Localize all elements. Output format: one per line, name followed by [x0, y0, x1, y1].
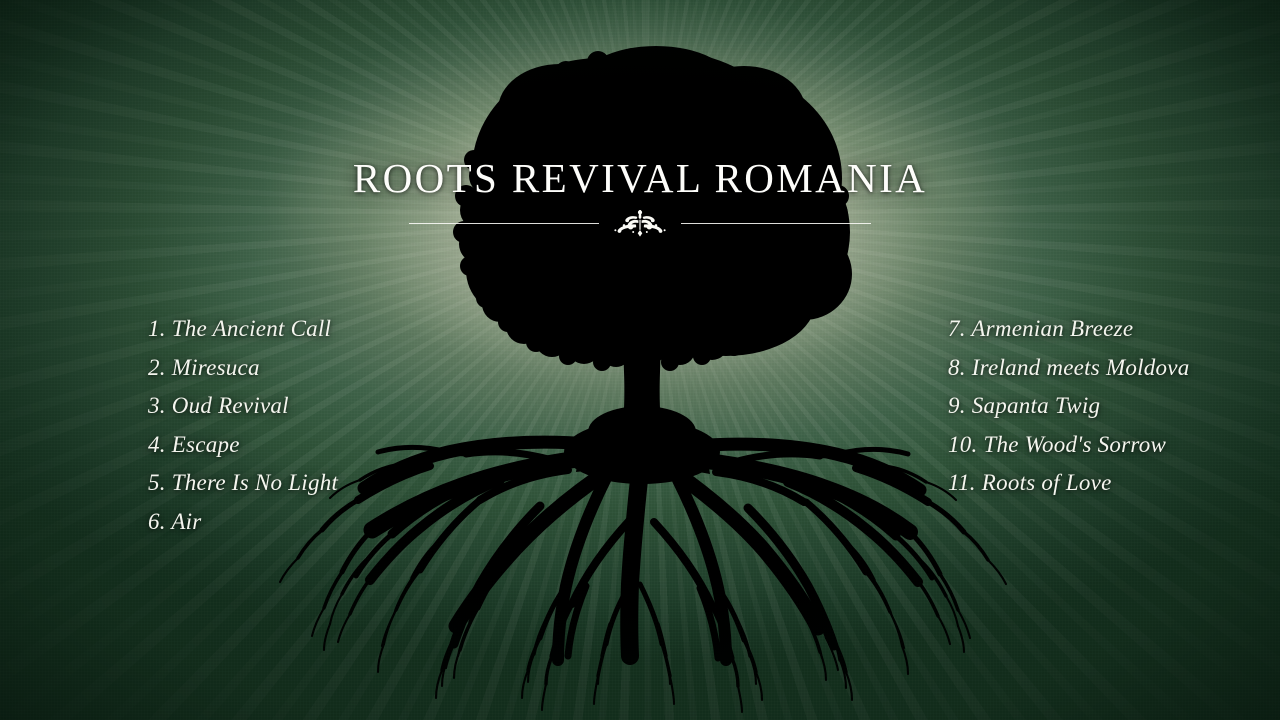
track-item[interactable]: 3. Oud Revival: [148, 387, 338, 426]
track-item[interactable]: 2. Miresuca: [148, 349, 338, 388]
track-number: 10.: [948, 432, 978, 457]
track-number: 3.: [148, 393, 166, 418]
track-item[interactable]: 6. Air: [148, 503, 338, 542]
track-number: 1.: [148, 316, 166, 341]
track-title: Miresuca: [172, 355, 260, 380]
track-item[interactable]: 11. Roots of Love: [948, 464, 1189, 503]
track-title: Oud Revival: [172, 393, 289, 418]
page-title: ROOTS REVIVAL ROMANIA: [0, 155, 1280, 201]
divider-rule-right: [681, 223, 871, 224]
fleuron-ornament: [603, 208, 677, 238]
title-divider: [409, 208, 871, 238]
video-still-canvas: ROOTS REVIVAL ROMANIA: [0, 0, 1280, 720]
track-title: Sapanta Twig: [972, 393, 1100, 418]
track-title: Escape: [172, 432, 240, 457]
track-item[interactable]: 7. Armenian Breeze: [948, 310, 1189, 349]
track-number: 9.: [948, 393, 966, 418]
track-number: 8.: [948, 355, 966, 380]
track-number: 4.: [148, 432, 166, 457]
track-title: Roots of Love: [982, 470, 1112, 495]
track-number: 7.: [948, 316, 966, 341]
tracklist-left-column: 1. The Ancient Call 2. Miresuca 3. Oud R…: [148, 310, 338, 541]
track-item[interactable]: 10. The Wood's Sorrow: [948, 426, 1189, 465]
track-number: 11.: [948, 470, 976, 495]
track-item[interactable]: 9. Sapanta Twig: [948, 387, 1189, 426]
track-title: The Ancient Call: [172, 316, 331, 341]
track-number: 5.: [148, 470, 166, 495]
track-item[interactable]: 8. Ireland meets Moldova: [948, 349, 1189, 388]
track-item[interactable]: 4. Escape: [148, 426, 338, 465]
track-number: 6.: [148, 509, 166, 534]
tracklist-right-column: 7. Armenian Breeze 8. Ireland meets Mold…: [948, 310, 1189, 503]
track-item[interactable]: 5. There Is No Light: [148, 464, 338, 503]
track-title: The Wood's Sorrow: [984, 432, 1167, 457]
track-title: Armenian Breeze: [971, 316, 1133, 341]
divider-rule-left: [409, 223, 599, 224]
track-number: 2.: [148, 355, 166, 380]
track-title: Air: [171, 509, 201, 534]
track-title: Ireland meets Moldova: [972, 355, 1190, 380]
track-title: There Is No Light: [172, 470, 338, 495]
track-item[interactable]: 1. The Ancient Call: [148, 310, 338, 349]
